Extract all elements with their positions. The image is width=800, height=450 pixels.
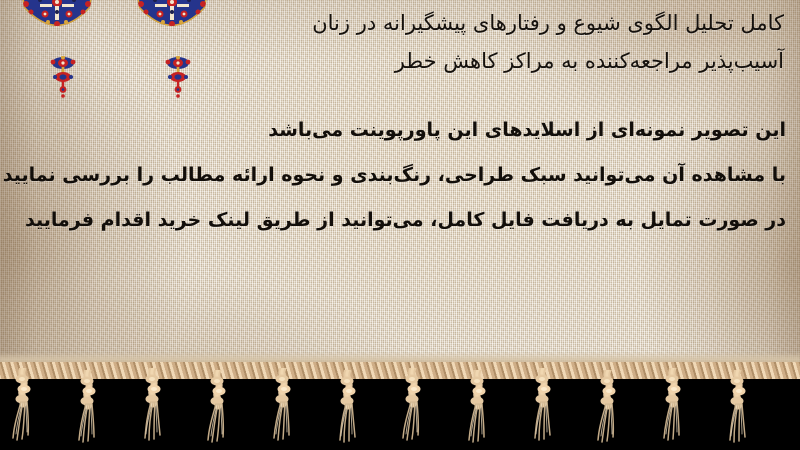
body-line-3: در صورت تمایل به دریافت فایل کامل، می‌تو…	[16, 198, 786, 243]
fringe-tassel-icon	[725, 370, 751, 448]
fringe-tassel-icon	[595, 370, 621, 448]
body-line-1: این تصویر نمونه‌ای از اسلایدهای این پاور…	[16, 108, 786, 153]
fringe-tassel-icon	[660, 368, 686, 446]
ornament-group	[0, 0, 240, 110]
title-line-1: کامل تحلیل الگوی شیوع و رفتارهای پیشگیرا…	[224, 4, 784, 42]
fringe-tassel-icon	[10, 368, 36, 446]
fringe-tassel-icon	[75, 370, 101, 448]
fringe-tassel-icon	[465, 370, 491, 448]
carpet-medallion-icon	[18, 0, 96, 42]
carpet-medallion-icon	[133, 0, 211, 42]
fringe-tassel-icon	[530, 368, 556, 446]
body-line-2: با مشاهده آن می‌توانید سبک طراحی، رنگ‌بن…	[16, 153, 786, 198]
carpet-pendant-icon	[163, 56, 193, 98]
fringe-tassel-icon	[270, 368, 296, 446]
carpet-fringe-band	[0, 362, 800, 450]
title-line-2: آسیب‌پذیر مراجعه‌کننده به مراکز کاهش خطر	[224, 42, 784, 80]
fringe-tassel-icon	[400, 368, 426, 446]
slide-body: این تصویر نمونه‌ای از اسلایدهای این پاور…	[16, 108, 786, 243]
fringe-tassel-icon	[140, 368, 166, 446]
fringe-tassel-icon	[205, 370, 231, 448]
fringe-tassel-icon	[335, 370, 361, 448]
carpet-pendant-icon	[48, 56, 78, 98]
slide-title: کامل تحلیل الگوی شیوع و رفتارهای پیشگیرا…	[224, 4, 784, 80]
slide-canvas: کامل تحلیل الگوی شیوع و رفتارهای پیشگیرا…	[0, 0, 800, 450]
